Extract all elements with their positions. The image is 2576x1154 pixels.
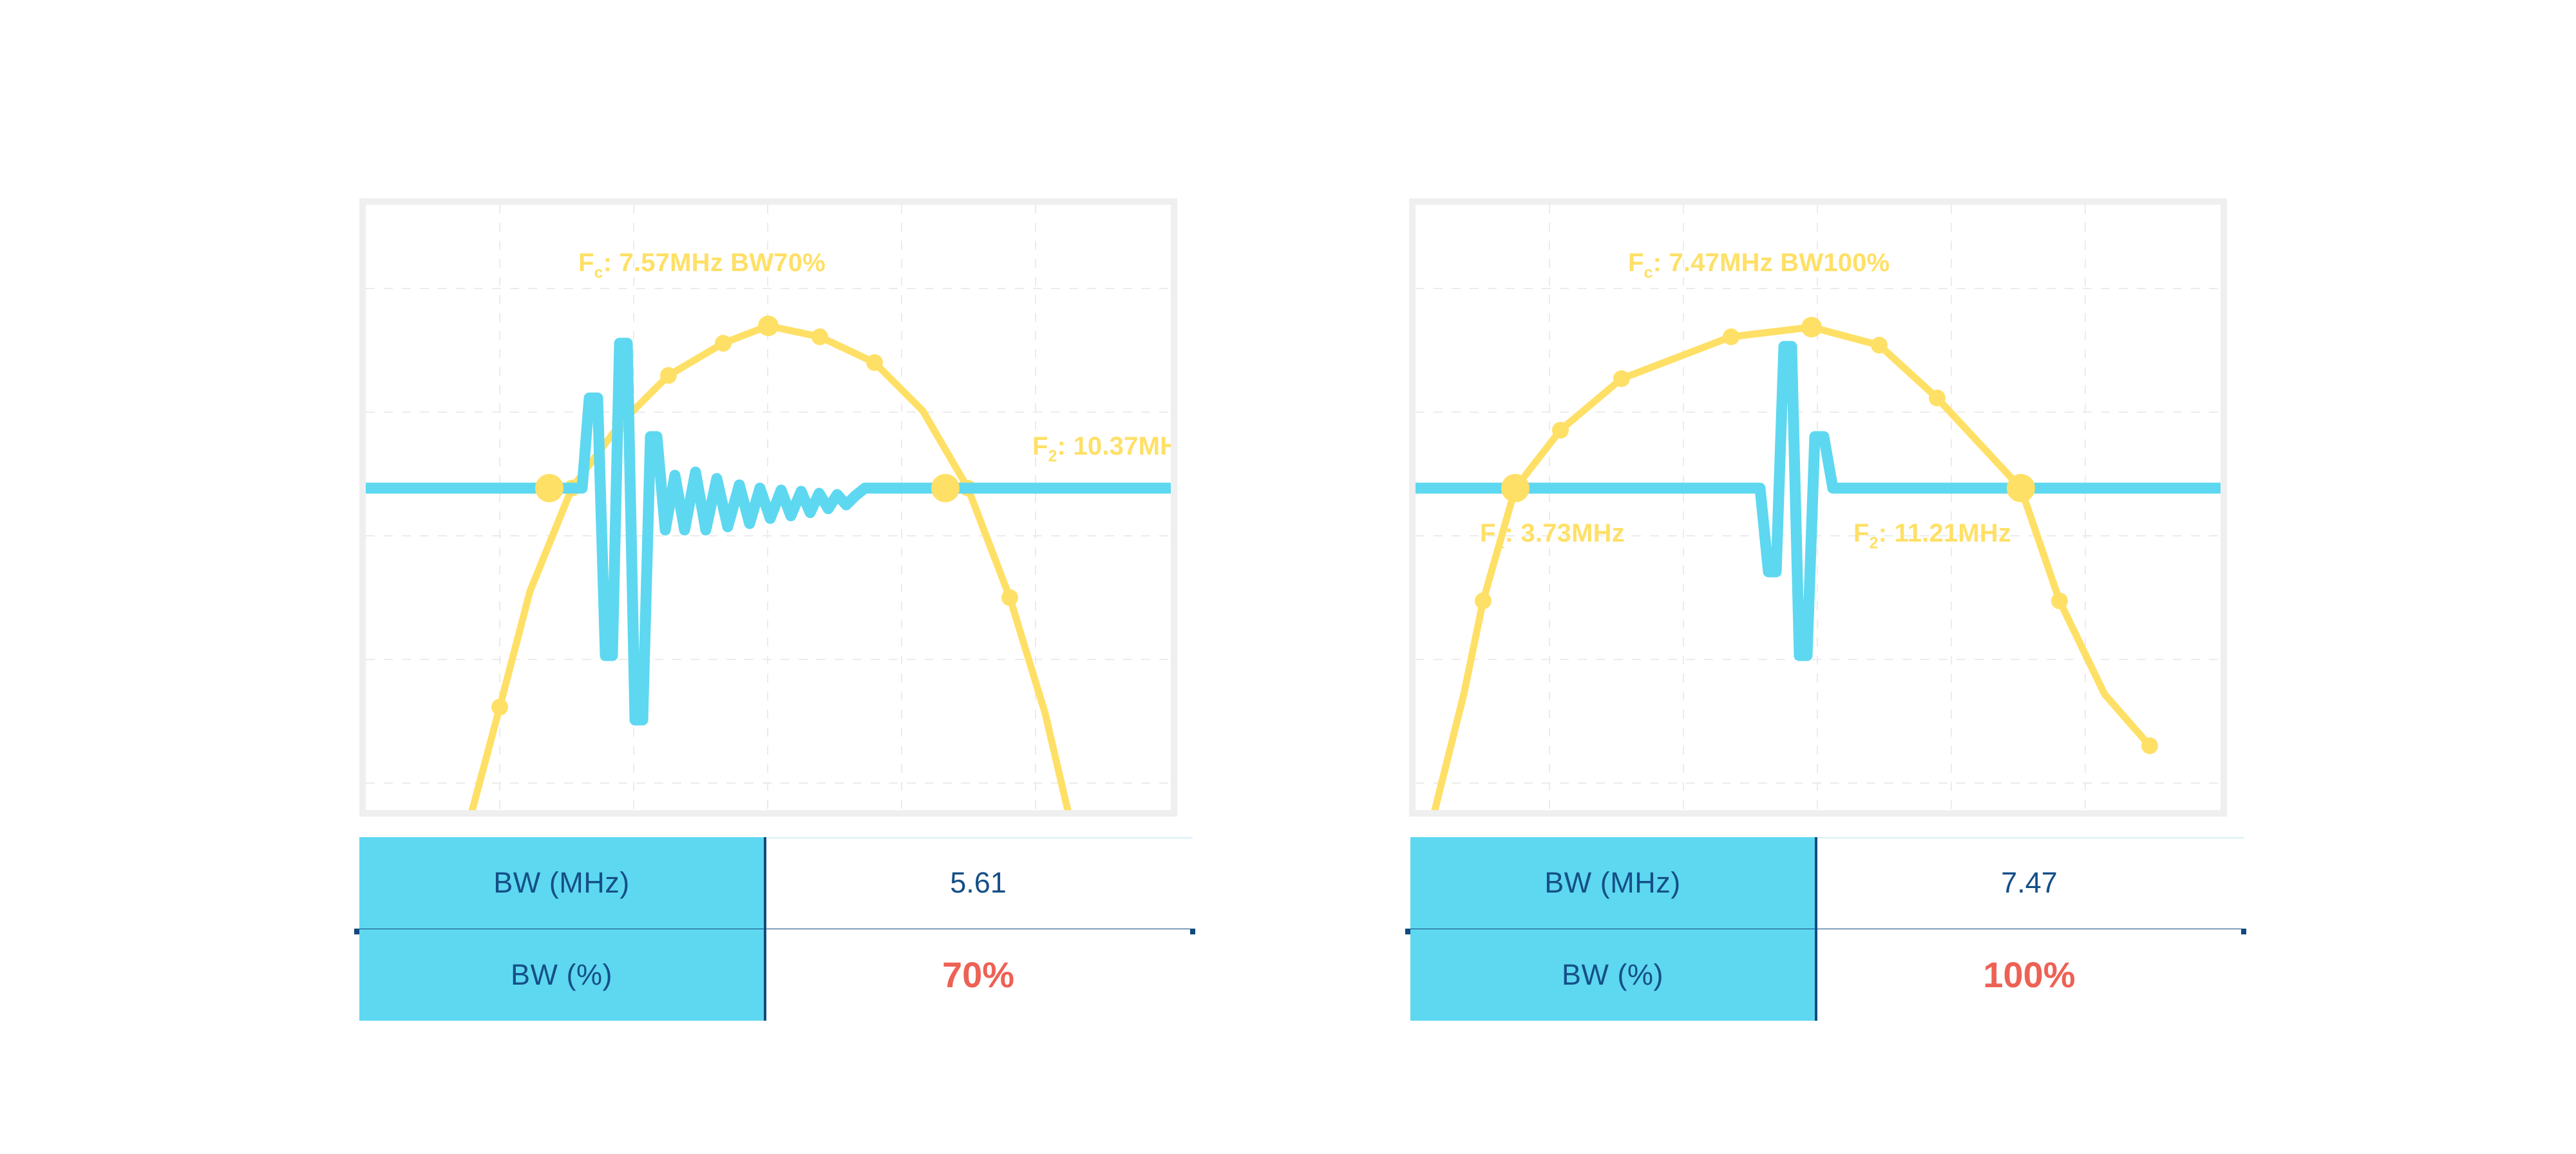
row-value-bw-mhz: 7.47 bbox=[1817, 837, 2241, 929]
row-value-bw-percent: 70% bbox=[766, 929, 1190, 1021]
row-hairline bbox=[1817, 837, 2244, 838]
f2-marker-dot bbox=[931, 474, 960, 502]
f1-subscript: 1 bbox=[1496, 534, 1505, 552]
grid-lines bbox=[1416, 205, 2221, 810]
row-label-bw-mhz: BW (MHz) bbox=[1410, 837, 1817, 929]
f2-prefix: F bbox=[1853, 519, 1870, 547]
table-row: BW (MHz) 7.47 bbox=[1410, 837, 2241, 929]
measurement-panel-right: Fc: 7.47MHz BW100% F1: 3.73MHz F2: 11.21… bbox=[1288, 0, 2576, 1154]
fc-text: : 7.57MHz BW70% bbox=[603, 249, 826, 277]
f2-prefix: F bbox=[1032, 432, 1048, 460]
spectrum-plot-left: Fc: 7.57MHz BW70% F1: 4.76MHz F2: 10.37M… bbox=[359, 198, 1177, 817]
fc-prefix: F bbox=[578, 249, 594, 277]
row-label-bw-mhz: BW (MHz) bbox=[359, 837, 766, 929]
table-row: BW (MHz) 5.61 bbox=[359, 837, 1190, 929]
plot-canvas-left bbox=[366, 205, 1171, 810]
annotation-f2-right: F2: 11.21MHz bbox=[1853, 520, 2011, 552]
annotation-f1-right: F1: 3.73MHz bbox=[1480, 520, 1625, 552]
annotation-f2-left: F2: 10.37MHz bbox=[1032, 433, 1177, 465]
f2-text: : 10.37MHz bbox=[1057, 432, 1177, 460]
fc-subscript: c bbox=[594, 264, 603, 281]
f2-marker-dot bbox=[2007, 474, 2035, 502]
table-row: BW (%) 100% bbox=[1410, 929, 2241, 1021]
f1-marker-dot bbox=[1501, 474, 1529, 502]
results-table-right: BW (MHz) 7.47 BW (%) 100% bbox=[1410, 837, 2241, 1021]
f1-text: : 3.73MHz bbox=[1505, 519, 1625, 547]
f1-prefix: F bbox=[1480, 519, 1496, 547]
annotation-center-frequency-right: Fc: 7.47MHz BW100% bbox=[1628, 250, 1889, 281]
spectrum-plot-right: Fc: 7.47MHz BW100% F1: 3.73MHz F2: 11.21… bbox=[1409, 198, 2227, 817]
plot-canvas-right bbox=[1416, 205, 2221, 810]
row-hairline bbox=[766, 837, 1193, 838]
table-row: BW (%) 70% bbox=[359, 929, 1190, 1021]
f2-subscript: 2 bbox=[1870, 534, 1879, 552]
annotation-center-frequency-left: Fc: 7.57MHz BW70% bbox=[578, 250, 826, 281]
f2-subscript: 2 bbox=[1048, 448, 1057, 465]
f2-text: : 11.21MHz bbox=[1879, 519, 2012, 547]
f1-marker-dot bbox=[535, 474, 563, 502]
measurement-panel-left: Fc: 7.57MHz BW70% F1: 4.76MHz F2: 10.37M… bbox=[0, 0, 1288, 1154]
fc-prefix: F bbox=[1628, 249, 1644, 277]
row-label-bw-percent: BW (%) bbox=[359, 929, 766, 1021]
screenshot-root: Fc: 7.57MHz BW70% F1: 4.76MHz F2: 10.37M… bbox=[0, 0, 2576, 1154]
row-label-bw-percent: BW (%) bbox=[1410, 929, 1817, 1021]
fc-subscript: c bbox=[1644, 264, 1653, 281]
row-value-bw-percent: 100% bbox=[1817, 929, 2241, 1021]
row-value-bw-mhz: 5.61 bbox=[766, 837, 1190, 929]
results-table-left: BW (MHz) 5.61 BW (%) 70% bbox=[359, 837, 1190, 1021]
fc-text: : 7.47MHz BW100% bbox=[1653, 249, 1890, 277]
